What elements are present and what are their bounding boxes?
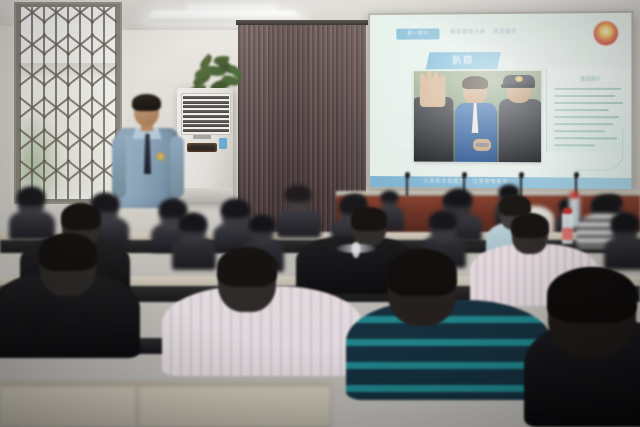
audience-hair: [445, 189, 472, 207]
uniformed-presenter: [112, 96, 184, 208]
ac-vent-slat: [183, 105, 229, 108]
ac-vent-slat: [183, 110, 229, 113]
ceiling-light-glow: [186, 3, 278, 12]
audience-hair: [429, 211, 457, 230]
curtain-rod: [236, 20, 368, 25]
audience-hair: [249, 215, 275, 232]
microphone-head-icon: [574, 172, 579, 178]
presenter-hair: [132, 94, 161, 111]
audience-hair: [381, 191, 398, 202]
microphone-stem: [406, 176, 408, 196]
bottle-cap-icon: [570, 192, 579, 198]
ac-display-panel: [187, 143, 217, 152]
front-desk-edge: [0, 382, 330, 386]
ac-vent-slat: [183, 96, 229, 99]
projector-screen: 第一部分 典型案例分析 · 防范提示 扒窃 案情简介 公安机关提醒您 · 注意财…: [368, 11, 633, 191]
audience-hair: [17, 187, 45, 206]
projected-slide: 第一部分 典型案例分析 · 防范提示 扒窃 案情简介 公安机关提醒您 · 注意财…: [370, 13, 631, 189]
microphone-stem: [520, 176, 522, 196]
ac-indicator-icon: [219, 138, 227, 149]
presenter-right-arm: [170, 136, 184, 198]
audience-hair: [285, 185, 311, 202]
microphone-head-icon: [519, 172, 524, 178]
ac-vent-slat: [183, 120, 229, 123]
barred-window: [14, 2, 122, 204]
audience-hair: [387, 249, 457, 296]
front-desk-surface: [0, 382, 330, 427]
audience-hair: [611, 213, 639, 232]
presenter-badge-icon: [156, 152, 165, 161]
audience-hair: [591, 195, 619, 214]
audience-hair: [547, 267, 637, 323]
audience-hair: [217, 247, 277, 287]
bottle-label: [562, 228, 573, 240]
window-security-grille: [19, 7, 117, 199]
audience-hair: [351, 207, 387, 231]
ac-vent-slat: [183, 101, 229, 104]
desk-seam: [136, 386, 139, 427]
eagle-body-icon: [352, 242, 360, 258]
audience-hair: [39, 233, 97, 271]
ac-vent-grille: [181, 93, 231, 135]
audience-hair: [511, 213, 549, 238]
ac-vent-slat: [183, 124, 229, 127]
air-conditioner[interactable]: [177, 88, 233, 202]
audience-hair: [221, 199, 250, 218]
microphone-head-icon: [405, 172, 410, 178]
bottle-cap-icon: [563, 208, 572, 214]
microphone-head-icon: [462, 172, 467, 178]
ac-brand-logo: [193, 135, 211, 139]
ac-base: [177, 188, 233, 202]
ac-vent-slat: [183, 115, 229, 118]
presenter-left-arm: [112, 136, 126, 198]
ac-vent-slat: [183, 129, 229, 132]
projector-light-bloom: [370, 13, 631, 189]
meeting-room-photo: 第一部分 典型案例分析 · 防范提示 扒窃 案情简介 公安机关提醒您 · 注意财…: [0, 0, 640, 427]
audience-hair: [61, 203, 101, 230]
audience-hair: [179, 213, 207, 232]
